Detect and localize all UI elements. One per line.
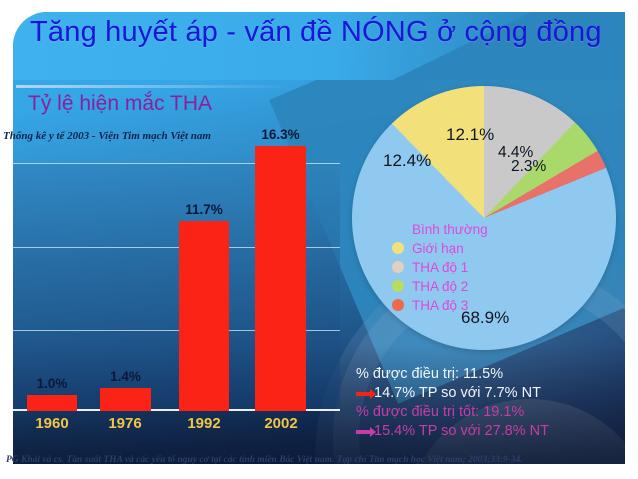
bar-1976 <box>100 388 151 411</box>
legend-label-grade3: THA độ 3 <box>412 298 468 313</box>
pie-legend: Bình thường Giới hạn THA độ 1 THA độ 2 T… <box>392 220 488 315</box>
pie-label-grade3: 2.3% <box>511 158 546 176</box>
arrow-right-icon <box>356 392 372 396</box>
legend-label-normal: Bình thường <box>412 222 488 237</box>
bar-label-1960: 1.0% <box>27 376 77 391</box>
pie-label-grade1: 12.1% <box>446 125 494 145</box>
legend-label-grade2: THA độ 2 <box>412 279 468 294</box>
legend-label-borderline: Giới hạn <box>412 241 464 256</box>
stat-welltreated-pct-text: % được điều trị tốt: 19.1% <box>356 403 524 422</box>
chart-subtitle: Tỷ lệ hiện mắc THA <box>28 92 212 116</box>
bar-label-1992: 11.7% <box>177 202 231 217</box>
legend-swatch-normal-icon <box>392 223 404 235</box>
bar-2002 <box>255 146 306 411</box>
bar-label-1976: 1.4% <box>100 369 151 384</box>
x-label-1976: 1976 <box>96 415 154 432</box>
legend-swatch-grade2-icon <box>392 280 404 292</box>
legend-item-grade1[interactable]: THA độ 1 <box>392 258 488 276</box>
legend-label-grade1: THA độ 1 <box>412 260 468 275</box>
bar-label-2002: 16.3% <box>253 127 308 142</box>
legend-item-normal[interactable]: Bình thường <box>392 220 488 238</box>
slide: Tăng huyết áp - vấn đề NÓNG ở cộng đồng … <box>0 0 638 479</box>
stat-treated-pct: % được điều trị: 11.5% <box>356 365 624 384</box>
page-title: Tăng huyết áp - vấn đề NÓNG ở cộng đồng <box>30 16 602 49</box>
legend-swatch-borderline-icon <box>392 242 404 254</box>
legend-item-grade2[interactable]: THA độ 2 <box>392 277 488 295</box>
legend-swatch-grade3-icon <box>392 299 404 311</box>
x-label-1992: 1992 <box>175 415 233 432</box>
bar-1960 <box>27 395 77 411</box>
stat-treated-pct-text: % được điều trị: 11.5% <box>356 365 503 384</box>
legend-item-borderline[interactable]: Giới hạn <box>392 239 488 257</box>
title-underline <box>16 85 291 88</box>
x-axis-labels: 1960 1976 1992 2002 <box>13 415 340 443</box>
arrow-right-icon <box>356 430 372 434</box>
legend-swatch-grade1-icon <box>392 261 404 273</box>
stat-welltreated-urban-rural: 15.4% TP so với 27.8% NT <box>356 422 624 441</box>
stat-welltreated-urban-rural-text: 15.4% TP so với 27.8% NT <box>374 422 549 441</box>
pie-label-borderline: 12.4% <box>383 151 431 171</box>
bar-1992 <box>179 221 229 411</box>
treatment-stats: % được điều trị: 11.5% 14.7% TP so với 7… <box>356 365 624 441</box>
x-label-1960: 1960 <box>23 415 81 432</box>
legend-item-grade3[interactable]: THA độ 3 <box>392 296 488 314</box>
pie-chart: 12.1% 12.4% 4.4% 2.3% 68.9% Bình thường … <box>352 86 616 350</box>
slide-footnote: PG Khải và cs. Tần suất THA và các yếu t… <box>6 455 634 465</box>
stat-treated-urban-rural-text: 14.7% TP so với 7.7% NT <box>374 384 541 403</box>
x-label-2002: 2002 <box>252 415 310 432</box>
bar-series: 1.0% 1.4% 11.7% 16.3% <box>13 120 340 411</box>
stat-treated-urban-rural: 14.7% TP so với 7.7% NT <box>356 384 624 403</box>
stat-welltreated-pct: % được điều trị tốt: 19.1% <box>356 403 624 422</box>
